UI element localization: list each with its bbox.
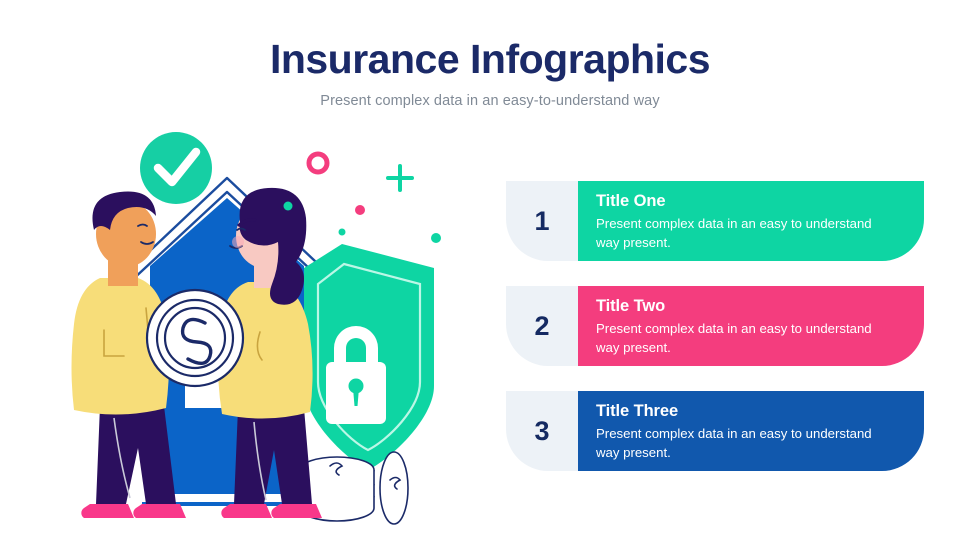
shoe <box>221 504 272 518</box>
decor-dot <box>339 229 346 236</box>
cards-list: 1 Title One Present complex data in an e… <box>506 181 924 471</box>
card-number: 2 <box>534 313 549 340</box>
decor-dots <box>284 154 442 243</box>
insurance-illustration <box>42 118 492 528</box>
card-description: Present complex data in an easy to under… <box>596 424 886 463</box>
decor-dot <box>355 205 365 215</box>
card-number-badge: 1 <box>506 181 578 261</box>
card-title: Title Two <box>596 297 906 317</box>
check-circle-icon <box>140 132 212 204</box>
card-item[interactable]: 3 Title Three Present complex data in an… <box>506 391 924 471</box>
header: Insurance Infographics Present complex d… <box>0 38 980 109</box>
shoe <box>81 504 134 518</box>
shield-lock-icon <box>304 244 434 470</box>
decor-plus <box>388 166 412 190</box>
decor-dot <box>284 202 293 211</box>
page-subtitle: Present complex data in an easy-to-under… <box>0 93 980 109</box>
card-title: Title One <box>596 192 906 212</box>
shoe <box>271 504 322 518</box>
card-item[interactable]: 1 Title One Present complex data in an e… <box>506 181 924 261</box>
decor-dot <box>431 233 441 243</box>
card-description: Present complex data in an easy to under… <box>596 214 886 253</box>
card-number-badge: 3 <box>506 391 578 471</box>
card-content: Title Three Present complex data in an e… <box>578 391 924 471</box>
card-number-badge: 2 <box>506 286 578 366</box>
card-number: 3 <box>534 418 549 445</box>
page-title: Insurance Infographics <box>0 38 980 81</box>
card-content: Title One Present complex data in an eas… <box>578 181 924 261</box>
card-content: Title Two Present complex data in an eas… <box>578 286 924 366</box>
card-item[interactable]: 2 Title Two Present complex data in an e… <box>506 286 924 366</box>
card-title: Title Three <box>596 402 906 422</box>
slide-root: Insurance Infographics Present complex d… <box>0 0 980 551</box>
card-number: 1 <box>534 208 549 235</box>
decor-ring <box>309 154 327 172</box>
shoe <box>133 504 186 518</box>
card-description: Present complex data in an easy to under… <box>596 319 886 358</box>
coin-icon <box>147 290 243 386</box>
